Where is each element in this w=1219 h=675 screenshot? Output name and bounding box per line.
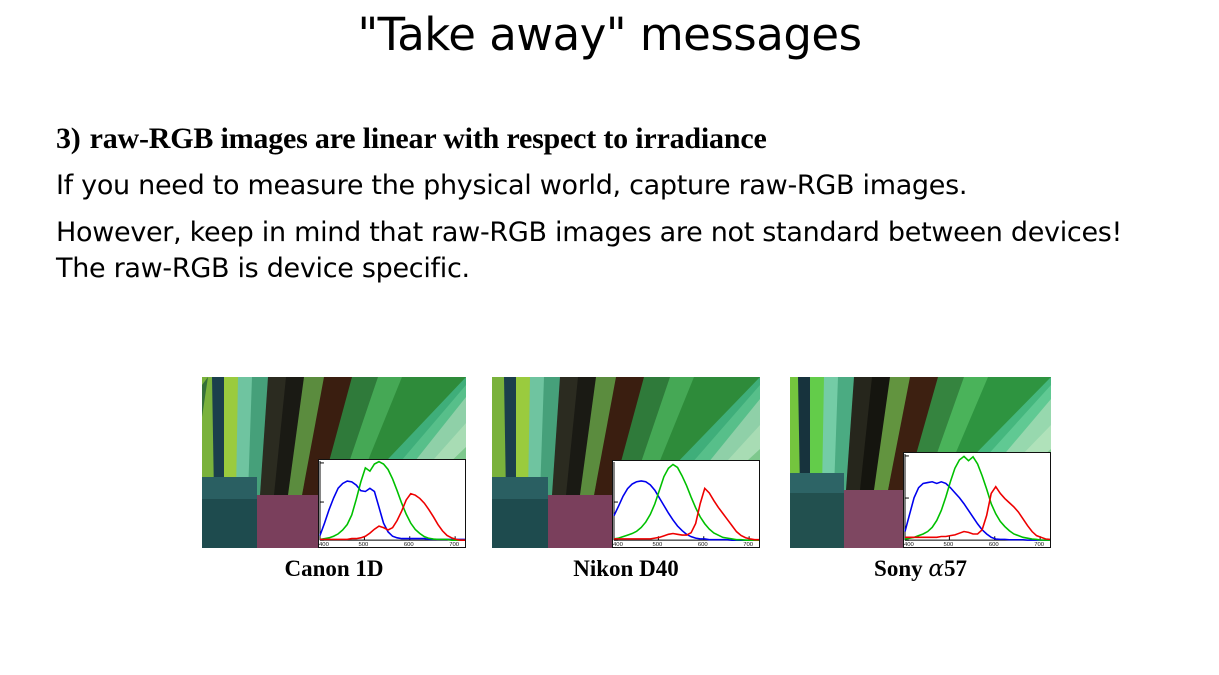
- caption-model: 57: [944, 556, 967, 581]
- caption-model: 1D: [355, 556, 383, 581]
- photo-sony-a57: 400 500 600 700 0 0.5: [790, 377, 1051, 548]
- svg-text:500: 500: [943, 542, 954, 547]
- paragraph-1: If you need to measure the physical worl…: [56, 168, 1166, 203]
- svg-text:700: 700: [1034, 542, 1045, 547]
- bullet-heading-text: raw-RGB images are linear with respect t…: [90, 122, 767, 155]
- svg-text:600: 600: [404, 542, 415, 547]
- figure-nikon-d40: 400 500 600 700 0 0.5 Nikon D40: [492, 377, 760, 548]
- svg-text:600: 600: [698, 542, 709, 547]
- caption-nikon-d40: Nikon D40: [492, 556, 760, 582]
- svg-text:500: 500: [652, 542, 663, 547]
- svg-text:400: 400: [613, 542, 624, 547]
- figure-row: 400 500 600 700 0 0.5 Canon 1D: [0, 377, 1219, 607]
- svg-text:500: 500: [358, 542, 369, 547]
- caption-brand: Sony: [874, 556, 928, 581]
- svg-text:600: 600: [989, 542, 1000, 547]
- bullet-number: 3): [56, 122, 81, 155]
- bullet-heading: 3)raw-RGB images are linear with respect…: [56, 123, 1166, 155]
- caption-model: D40: [639, 556, 679, 581]
- paragraph-2: However, keep in mind that raw-RGB image…: [56, 215, 1156, 285]
- figure-canon-1d: 400 500 600 700 0 0.5 Canon 1D: [202, 377, 466, 548]
- caption-alpha-glyph: α: [928, 556, 944, 582]
- body-text-block: 3)raw-RGB images are linear with respect…: [56, 123, 1166, 286]
- caption-canon-1d: Canon 1D: [202, 556, 466, 582]
- inset-spectral-plot-canon: 400 500 600 700 0 0.5: [318, 459, 466, 548]
- photo-nikon-d40: 400 500 600 700 0 0.5: [492, 377, 760, 548]
- photo-canon-1d: 400 500 600 700 0 0.5: [202, 377, 466, 548]
- caption-brand: Nikon: [573, 556, 639, 581]
- svg-text:700: 700: [449, 542, 460, 547]
- svg-text:400: 400: [319, 542, 330, 547]
- svg-text:700: 700: [743, 542, 754, 547]
- svg-text:400: 400: [904, 542, 915, 547]
- caption-brand: Canon: [284, 556, 355, 581]
- figure-sony-a57: 400 500 600 700 0 0.5 Sony α57: [790, 377, 1051, 548]
- inset-spectral-plot-nikon: 400 500 600 700 0 0.5: [612, 460, 760, 548]
- slide-root: "Take away" messages 3)raw-RGB images ar…: [0, 0, 1219, 675]
- page-title: "Take away" messages: [0, 8, 1219, 61]
- caption-sony-a57: Sony α57: [790, 556, 1051, 582]
- inset-spectral-plot-sony: 400 500 600 700 0 0.5: [903, 452, 1051, 548]
